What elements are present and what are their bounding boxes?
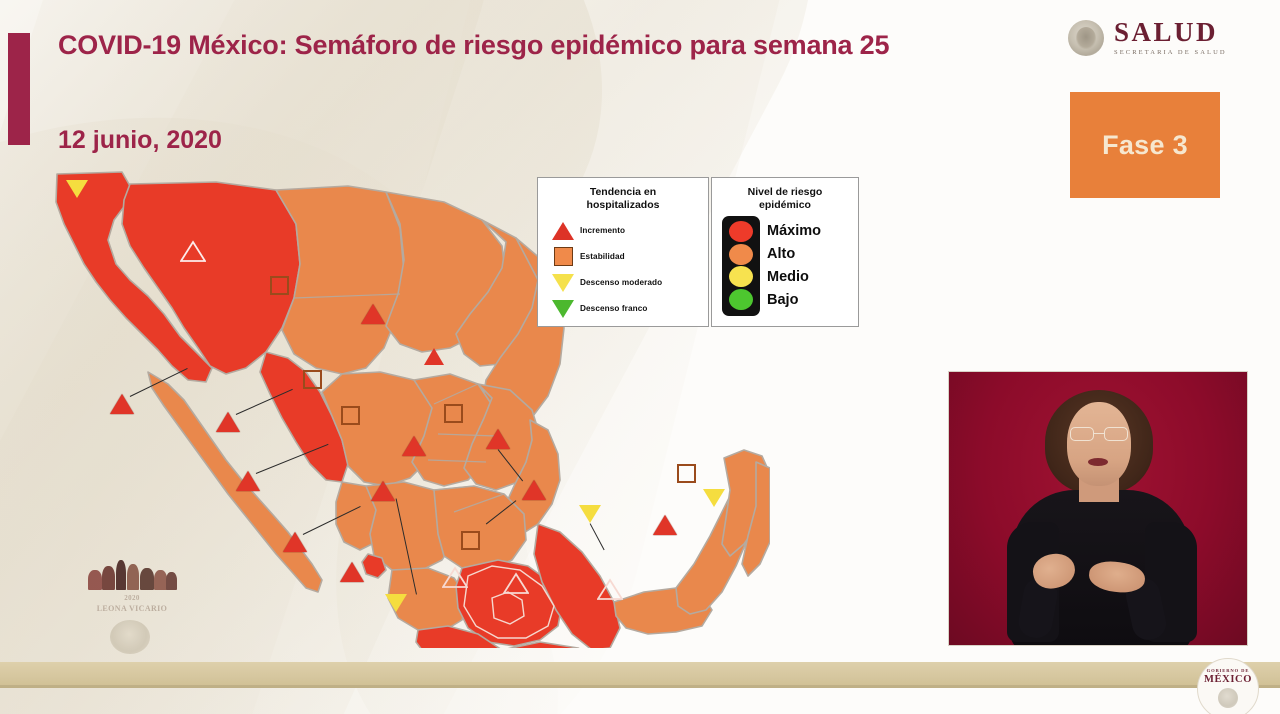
map-marker-incremento [371, 481, 395, 501]
legend-item-descenso-franco: Descenso franco [538, 296, 708, 322]
legend-risk: Nivel de riesgo epidémico Máximo Alto Me… [711, 177, 859, 327]
gobierno-de-mexico-badge: GOBIERNO DE MÉXICO [1197, 658, 1259, 714]
map-marker-incremento [486, 429, 510, 449]
map-marker-incremento-outline [597, 578, 623, 605]
commem-seal-icon [110, 620, 150, 654]
map-marker-incremento-outline [503, 572, 529, 599]
map-marker-incremento-outline [180, 240, 206, 267]
title-accent-bar [8, 33, 30, 145]
traffic-light-icon [722, 216, 760, 316]
legend-item-descenso-moderado: Descenso moderado [538, 270, 708, 296]
legend-trend-title: Tendencia en hospitalizados [538, 178, 708, 212]
footer-bar [0, 662, 1280, 688]
map-marker-descenso-moderado [703, 489, 725, 507]
triangle-up-icon [546, 222, 580, 240]
triangle-down-yellow-icon [546, 274, 580, 292]
risk-label-alto: Alto [767, 247, 821, 262]
map-marker-descenso-moderado [579, 505, 601, 523]
salud-subtitle: SECRETARIA DE SALUD [1114, 50, 1227, 57]
map-marker-incremento [402, 436, 426, 456]
commem-text-line1: 2020 [82, 594, 182, 602]
risk-label-bajo: Bajo [767, 293, 821, 308]
sign-language-interpreter-video[interactable] [948, 371, 1248, 646]
salud-title: SALUD [1114, 19, 1227, 46]
lamp-medio [729, 266, 753, 287]
map-marker-incremento-outline [442, 566, 468, 593]
legend-trend: Tendencia en hospitalizados Incremento E… [537, 177, 709, 327]
phase-label: Fase 3 [1102, 130, 1188, 161]
map-marker-incremento [361, 304, 385, 324]
page-title: COVID-19 México: Semáforo de riesgo epid… [58, 28, 908, 63]
interpreter-face [1067, 402, 1131, 486]
risk-label-medio: Medio [767, 270, 821, 285]
mexico-eagle-seal-icon [1068, 20, 1104, 56]
badge-main-text: MÉXICO [1204, 674, 1252, 685]
square-icon [546, 247, 580, 266]
state-colima [362, 554, 386, 578]
risk-label-maximo: Máximo [767, 224, 821, 239]
map-marker-estabilidad [444, 404, 463, 423]
map-marker-descenso-moderado [385, 594, 407, 612]
commemorative-seal: 2020 LEONA VICARIO [78, 556, 186, 656]
salud-logo: SALUD SECRETARIA DE SALUD [1068, 14, 1248, 62]
legend-item-estabilidad: Estabilidad [538, 244, 708, 270]
badge-seal-icon [1218, 688, 1238, 708]
historic-figures-illustration [86, 556, 178, 590]
lamp-maximo [729, 221, 753, 242]
map-marker-incremento [340, 562, 364, 582]
map-marker-estabilidad [270, 276, 289, 295]
commem-text-line2: LEONA VICARIO [82, 604, 182, 613]
presentation-slide: COVID-19 México: Semáforo de riesgo epid… [0, 0, 1280, 714]
map-marker-estabilidad [677, 464, 696, 483]
interpreter-mouth [1088, 458, 1108, 466]
phase-badge: Fase 3 [1070, 92, 1220, 198]
badge-sup-text: GOBIERNO DE [1207, 668, 1250, 673]
triangle-down-green-icon [546, 300, 580, 318]
legend-item-incremento: Incremento [538, 218, 708, 244]
map-marker-estabilidad [461, 531, 480, 550]
map-marker-incremento [522, 480, 546, 500]
legend-risk-title: Nivel de riesgo epidémico [712, 178, 858, 212]
map-marker-descenso-moderado [66, 180, 88, 198]
page-date: 12 junio, 2020 [58, 126, 222, 155]
lamp-alto [729, 244, 753, 265]
salud-wordmark: SALUD SECRETARIA DE SALUD [1114, 19, 1227, 57]
map-marker-estabilidad [303, 370, 322, 389]
map-marker-incremento [424, 348, 444, 365]
map-marker-estabilidad [341, 406, 360, 425]
map-marker-incremento [653, 515, 677, 535]
lamp-bajo [729, 289, 753, 310]
glasses-icon [1070, 427, 1128, 441]
